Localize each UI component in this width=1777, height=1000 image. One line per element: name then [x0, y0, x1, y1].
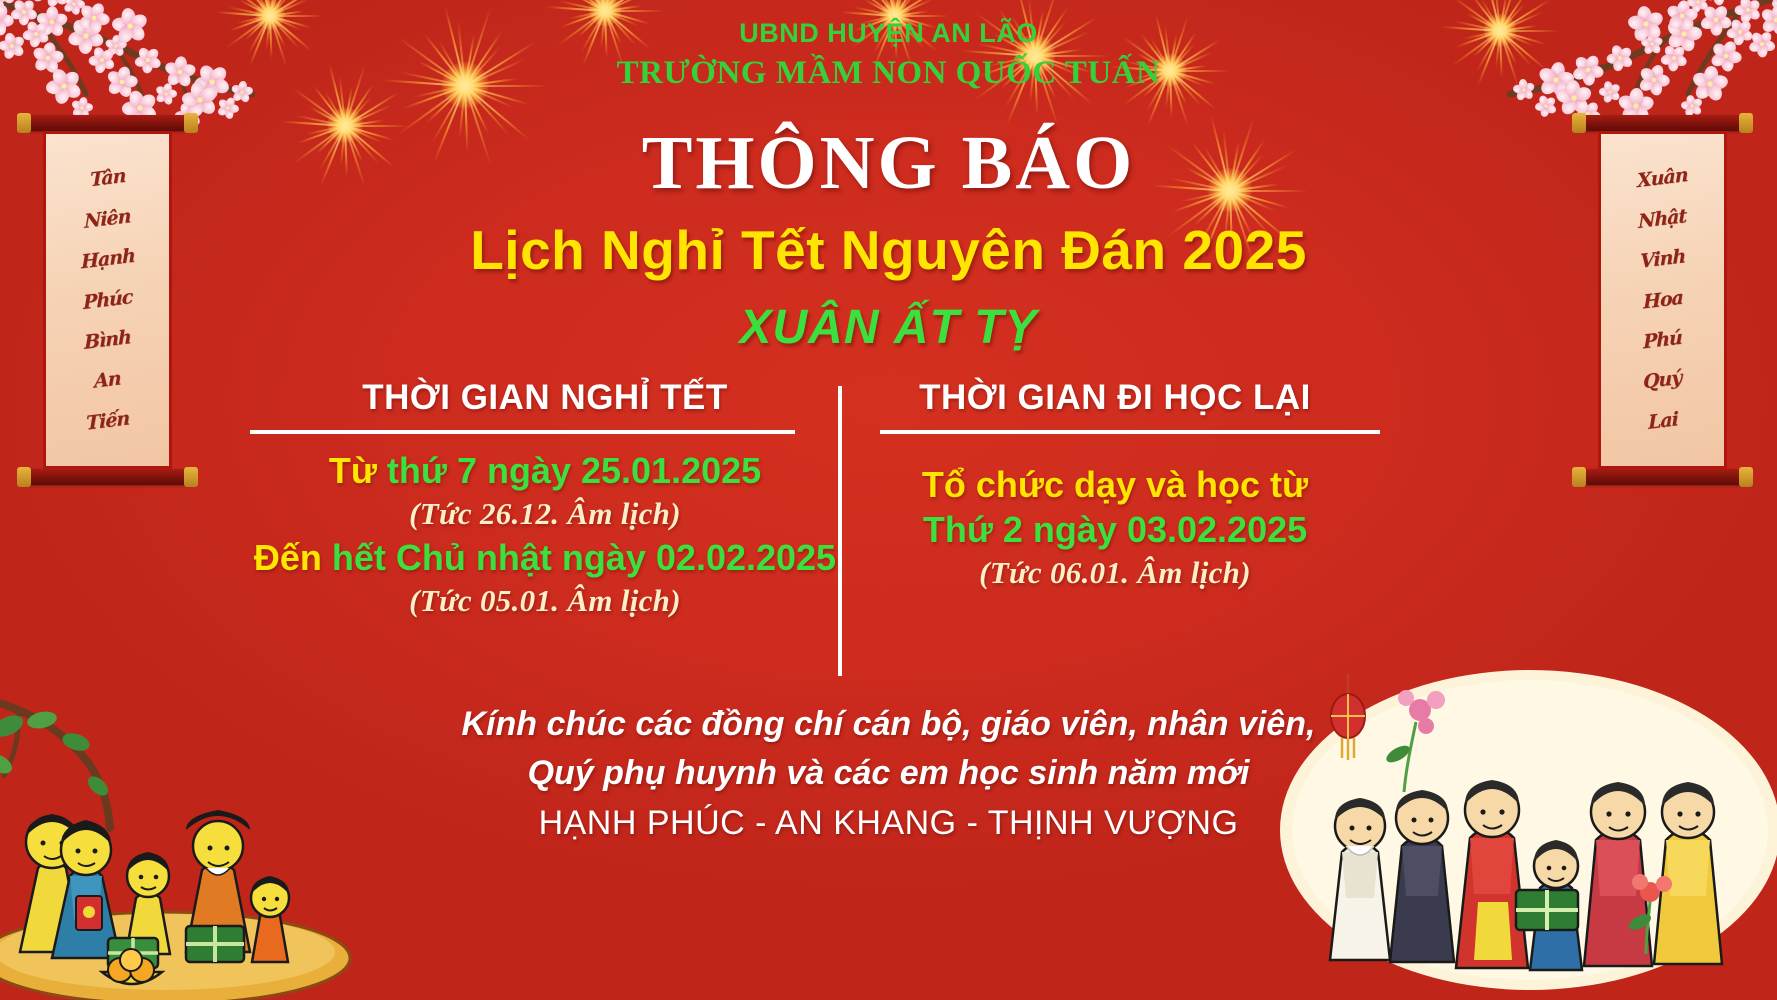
firework-ray [216, 11, 270, 17]
blossom-petal [228, 104, 240, 114]
blossom-petal [162, 93, 174, 106]
firework-ray [895, 15, 949, 17]
blossom-petal [195, 95, 218, 117]
firework-ray [269, 0, 293, 17]
greeting-block: Kính chúc các đồng chí cán bộ, giáo viên… [0, 700, 1777, 848]
firework-ray [895, 10, 929, 17]
blossom-center [80, 106, 84, 110]
blossom-petal [1739, 0, 1753, 12]
firework-ray [890, 0, 896, 16]
blossom-petal [238, 90, 251, 104]
firework-ray [604, 0, 655, 12]
table-row-lunar: (Tức 06.01. Âm lịch) [850, 552, 1380, 594]
firework-ray [894, 0, 913, 16]
blossom-petal [1687, 0, 1698, 7]
blossom-petal [1676, 0, 1691, 17]
blossom-petal [82, 103, 94, 113]
blossom-center [1690, 104, 1694, 108]
blossom-petal [0, 0, 6, 11]
blossom-center [226, 106, 230, 110]
scroll-char: Tiến [86, 409, 129, 433]
firework-ray [894, 0, 941, 17]
firework-ray [270, 15, 324, 17]
blossom-petal [52, 0, 69, 7]
blossom-center [137, 105, 144, 112]
blossom-petal [155, 91, 169, 105]
firework-ray [604, 0, 632, 12]
table-row: Đến hết Chủ nhật ngày 02.02.2025 [250, 535, 840, 580]
blossom-petal [1617, 93, 1639, 112]
firework-ray [605, 10, 664, 12]
blossom-center [164, 92, 169, 97]
firework-ray [590, 0, 606, 11]
blossom-petal [1690, 0, 1702, 3]
firework-ray [269, 0, 288, 16]
blossom-petal [1696, 0, 1710, 12]
table-column-return: THỜI GIAN ĐI HỌC LẠI Tổ chức dạy và học … [850, 378, 1380, 678]
blossom-petal [1543, 95, 1557, 109]
blossom-petal [1634, 95, 1655, 113]
scroll-rod-bottom [1580, 469, 1745, 485]
blossom-petal [70, 3, 81, 16]
organization-line1: UBND HUYỆN AN LÃO [0, 18, 1777, 49]
table-row: Tổ chức dạy và học từ [850, 462, 1380, 507]
firework-ray [559, 0, 605, 12]
blossom-petal [70, 99, 84, 112]
firework-ray [269, 0, 277, 16]
blossom-petal [1538, 94, 1550, 108]
firework-ray [605, 0, 649, 12]
blossom-petal [0, 0, 16, 5]
firework-ray [256, 0, 271, 16]
firework-ray [605, 5, 642, 12]
firework-ray [557, 0, 606, 12]
firework-ray [243, 0, 271, 17]
firework-ray [841, 11, 895, 17]
blossom-petal [216, 104, 230, 117]
blossom-petal [217, 97, 231, 111]
table-row: Từ thứ 7 ngày 25.01.2025 [250, 448, 840, 493]
blossom-center [196, 96, 204, 104]
schedule-table: THỜI GIAN NGHỈ TẾT Từ thứ 7 ngày 25.01.2… [250, 378, 1380, 678]
blossom-petal [1686, 94, 1697, 107]
firework-ray [851, 0, 896, 17]
blossom-petal [1760, 0, 1776, 1]
blossom-petal [0, 0, 8, 4]
firework-ray [895, 0, 935, 17]
firework-ray [269, 0, 316, 17]
scroll-char: Quý [1643, 369, 1681, 393]
firework-ray [265, 0, 271, 16]
table-row-lunar: (Tức 26.12. Âm lịch) [250, 493, 840, 535]
page-title: THÔNG BÁO [0, 120, 1777, 207]
firework-ray [269, 0, 295, 17]
scroll-char: Lai [1647, 410, 1677, 433]
blossom-petal [62, 0, 76, 13]
firework-ray [226, 0, 271, 17]
tet-announcement-poster: Tân Niên Hạnh Phúc Bình An Tiến Xuân Nhậ… [0, 0, 1777, 1000]
blossom-petal [1713, 0, 1725, 6]
firework-ray [228, 6, 270, 17]
scroll-rod-bottom [25, 469, 190, 485]
table-column-holiday: THỜI GIAN NGHỈ TẾT Từ thứ 7 ngày 25.01.2… [250, 378, 840, 678]
organization-line2: TRƯỜNG MẦM NON QUỐC TUẤN [0, 55, 1777, 92]
blossom-petal [1704, 0, 1720, 2]
blossom-center [1570, 94, 1578, 102]
blossom-petal [0, 0, 10, 2]
blossom-petal [224, 107, 235, 120]
blossom-petal [30, 0, 49, 3]
row-main: hết Chủ nhật ngày 02.02.2025 [332, 537, 836, 578]
greeting-line-2: Quý phụ huynh và các em học sinh năm mới [0, 749, 1777, 798]
firework-ray [546, 6, 605, 12]
row-prefix: Tổ chức dạy và học từ [922, 464, 1308, 505]
row-main: thứ 7 ngày 25.01.2025 [387, 450, 761, 491]
blossom-petal [136, 91, 159, 113]
firework-ray [877, 0, 896, 17]
firework-ray [864, 0, 895, 17]
firework-ray [252, 0, 271, 17]
page-subtitle: Lịch Nghỉ Tết Nguyên Đán 2025 [0, 218, 1777, 282]
firework-ray [586, 0, 606, 12]
firework-ray [599, 0, 606, 11]
firework-ray [572, 0, 606, 12]
page-subtitle-lunar-year: XUÂN ẤT TỴ [0, 300, 1777, 355]
row-main: Thứ 2 ngày 03.02.2025 [923, 509, 1307, 550]
blossom-petal [1535, 102, 1547, 112]
blossom-petal [78, 96, 89, 109]
blossom-petal [1691, 1, 1702, 14]
scroll-char: An [94, 370, 121, 392]
blossom-petal [1745, 0, 1762, 14]
greeting-line-3: HẠNH PHÚC - AN KHANG - THỊNH VƯỢNG [0, 799, 1777, 848]
column-body-holiday: Từ thứ 7 ngày 25.01.2025 (Tức 26.12. Âm … [250, 434, 840, 622]
blossom-center [1696, 0, 1700, 4]
blossom-petal [1735, 5, 1749, 16]
column-header-holiday: THỜI GIAN NGHỈ TẾT [250, 378, 840, 418]
row-prefix: Từ [329, 450, 387, 491]
firework-ray [881, 0, 896, 16]
firework-ray [604, 0, 612, 11]
blossom-center [21, 9, 27, 15]
blossom-petal [122, 101, 141, 116]
firework-ray [604, 0, 624, 11]
blossom-petal [1544, 102, 1558, 115]
blossom-petal [1770, 0, 1777, 9]
blossom-petal [1695, 0, 1709, 5]
firework-ray [270, 10, 304, 17]
column-header-return: THỜI GIAN ĐI HỌC LẠI [850, 378, 1380, 418]
blossom-petal [63, 0, 77, 7]
blossom-petal [1540, 105, 1551, 118]
blossom-petal [181, 92, 200, 107]
firework-ray [853, 6, 895, 17]
blossom-petal [70, 0, 82, 5]
blossom-center [1745, 7, 1751, 13]
blossom-petal [20, 0, 36, 15]
blossom-center [1544, 104, 1548, 108]
firework-ray [894, 0, 918, 17]
column-body-return: Tổ chức dạy và học từ Thứ 2 ngày 03.02.2… [850, 434, 1380, 594]
greeting-line-1: Kính chúc các đồng chí cán bộ, giáo viên… [0, 700, 1777, 749]
blossom-petal [1602, 91, 1614, 104]
blossom-center [1633, 103, 1640, 110]
firework-ray [604, 0, 630, 12]
firework-ray [239, 0, 270, 17]
blossom-petal [224, 96, 236, 110]
row-prefix: Đến [254, 537, 332, 578]
firework-ray [868, 0, 896, 17]
blossom-petal [1681, 101, 1693, 111]
blossom-petal [46, 0, 61, 8]
firework-ray [270, 0, 310, 17]
firework-ray [894, 0, 920, 17]
blossom-center [72, 2, 76, 6]
firework-ray [894, 0, 902, 16]
firework-ray [575, 0, 605, 12]
blossom-petal [1690, 97, 1704, 110]
blossom-petal [74, 0, 85, 9]
blossom-petal [12, 0, 28, 15]
blossom-petal [1768, 0, 1777, 2]
table-row-lunar: (Tức 05.01. Âm lịch) [250, 580, 840, 622]
table-row: Thứ 2 ngày 03.02.2025 [850, 507, 1380, 552]
